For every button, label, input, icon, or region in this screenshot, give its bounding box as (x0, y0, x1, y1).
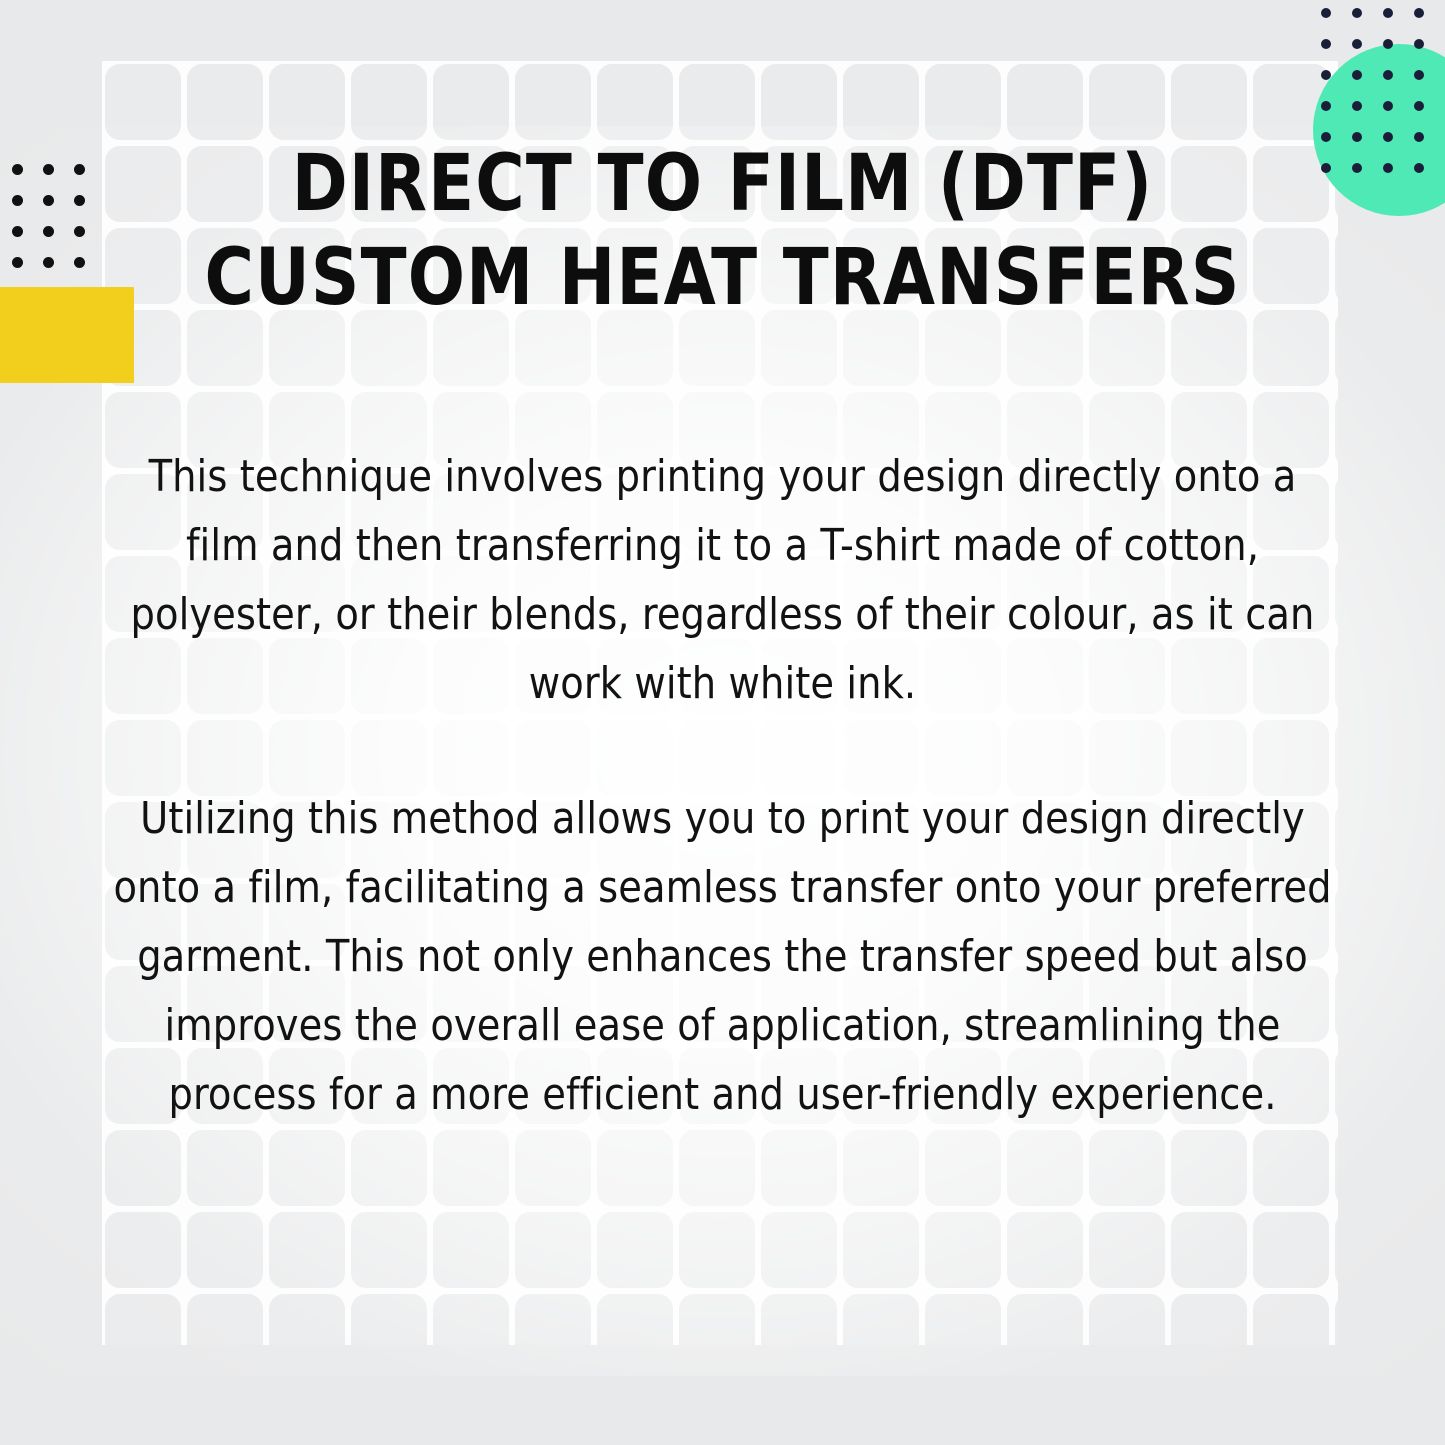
paragraph-two: Utilizing this method allows you to prin… (109, 784, 1336, 1129)
body-copy: This technique involves printing your de… (90, 325, 1355, 1129)
page-title: DIRECT TO FILM (DTF) CUSTOM HEAT TRANSFE… (29, 137, 1416, 325)
paragraph-one: This technique involves printing your de… (109, 442, 1336, 718)
poster-canvas: DIRECT TO FILM (DTF) CUSTOM HEAT TRANSFE… (0, 0, 1445, 1445)
poster-content: DIRECT TO FILM (DTF) CUSTOM HEAT TRANSFE… (0, 0, 1445, 1445)
